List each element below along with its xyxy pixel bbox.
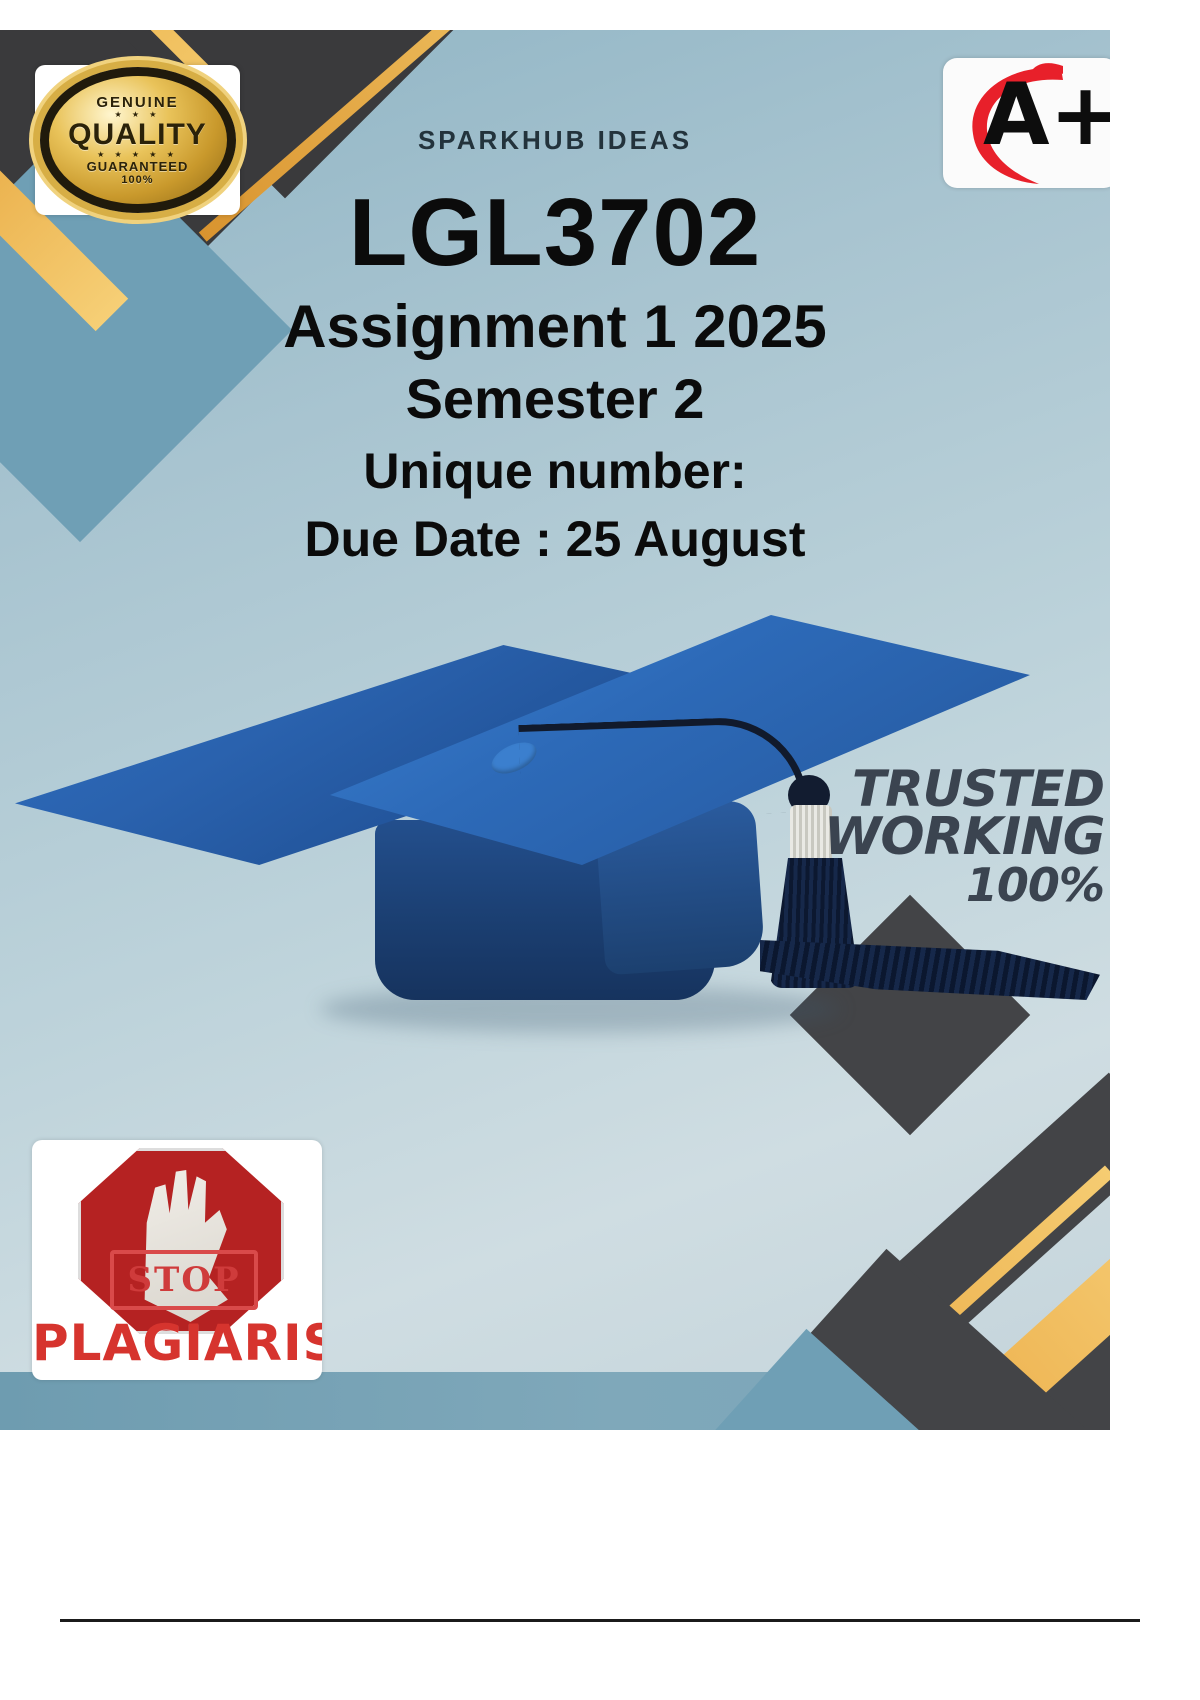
quality-seal-icon: GENUINE ★ ★ ★ QUALITY ★ ★ ★ ★ ★ GUARANTE… [40, 67, 236, 213]
title-block: LGL3702 Assignment 1 2025 Semester 2 Uni… [0, 185, 1110, 566]
stop-stamp: STOP [110, 1250, 258, 1310]
quality-guaranteed-badge: GENUINE ★ ★ ★ QUALITY ★ ★ ★ ★ ★ GUARANTE… [35, 65, 240, 215]
assignment-cover-poster: SPARKHUB IDEAS LGL3702 Assignment 1 2025… [0, 30, 1110, 1430]
a-plus-grade-badge: A+ [943, 58, 1110, 188]
page-divider-rule [60, 1619, 1140, 1622]
seal-genuine-text: GENUINE [96, 94, 178, 111]
a-plus-text: A+ [983, 72, 1110, 158]
assignment-line: Assignment 1 2025 [0, 295, 1110, 358]
trusted-line-2: WORKING [824, 813, 1104, 863]
seal-quality-text: QUALITY [68, 120, 207, 150]
seal-stars-bottom: ★ ★ ★ ★ ★ [97, 151, 178, 159]
trusted-working-stamp: TRUSTED WORKING 100% [824, 765, 1104, 907]
stop-plagiarism-badge: STOP PLAGIARISM [32, 1140, 322, 1380]
semester-line: Semester 2 [0, 370, 1110, 429]
stop-text: STOP [127, 1260, 240, 1300]
tassel-cord [518, 715, 808, 822]
plagiarism-label: PLAGIARISM [32, 1314, 322, 1372]
tassel-strands [760, 940, 1100, 1000]
trusted-line-1: TRUSTED [824, 765, 1104, 813]
seal-percent-text: 100% [121, 174, 153, 186]
due-date-line: Due Date : 25 August [0, 513, 1110, 566]
unique-number-line: Unique number: [0, 445, 1110, 498]
seal-guaranteed-text: GUARANTEED [87, 159, 189, 174]
trusted-line-3: 100% [824, 863, 1104, 907]
